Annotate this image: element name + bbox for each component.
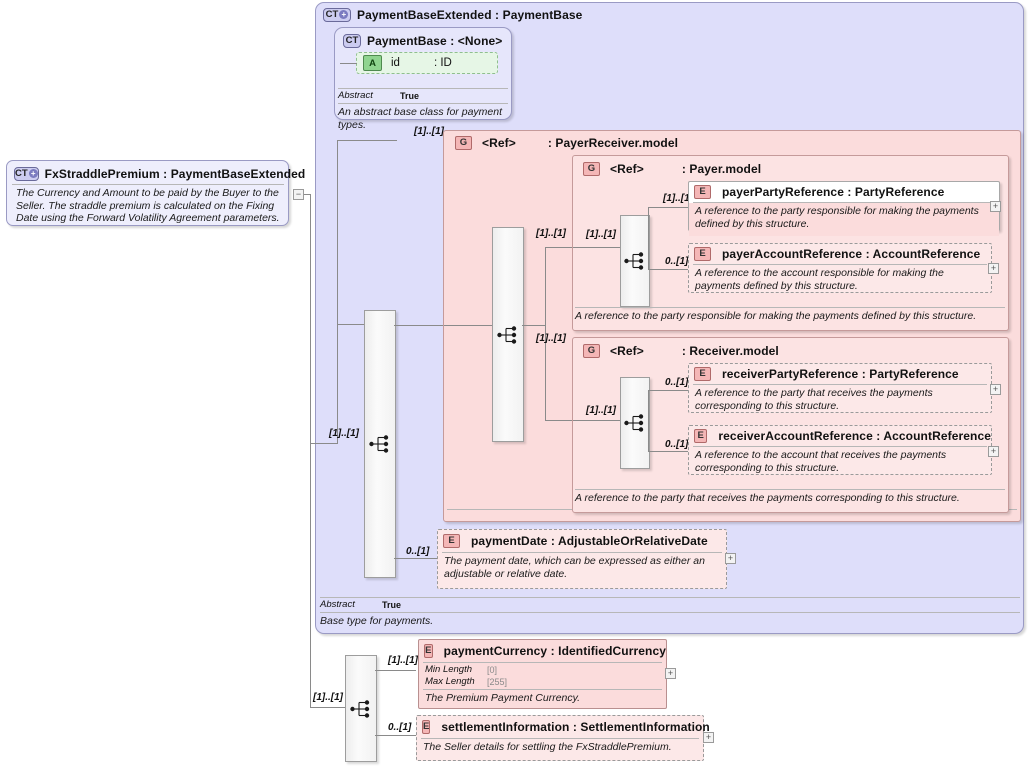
payment-base-abstract-key: Abstract — [338, 90, 400, 102]
sequence-compositor-receiver[interactable] — [620, 377, 650, 469]
settlementInformation-title: settlementInformation : SettlementInform… — [441, 720, 710, 734]
max-length-value: [255] — [487, 676, 507, 688]
payer-model-footer: A reference to the party responsible for… — [575, 307, 1005, 326]
sequence-compositor-payer-receiver[interactable] — [492, 227, 524, 442]
element-payerPartyReference[interactable]: E payerPartyReference : PartyReference A… — [688, 181, 1000, 231]
paymentDate-title: paymentDate : AdjustableOrRelativeDate — [471, 534, 708, 548]
element-icon: E — [424, 644, 433, 658]
abstract-key: Abstract — [320, 599, 382, 611]
root-plus-glyph: + — [29, 169, 38, 178]
receiverPartyReference-title: receiverPartyReference : PartyReference — [722, 367, 959, 381]
payer-model-header: G <Ref> : Payer.model — [578, 158, 908, 179]
root-element-description: The Currency and Amount to be paid by th… — [10, 185, 286, 228]
element-icon: E — [443, 534, 460, 548]
sequence-glyph-receiver — [624, 413, 646, 433]
complex-type-icon: CT — [343, 34, 361, 48]
receiver-model-description: A reference to the party that receives t… — [575, 490, 1005, 508]
pr-seq-in-line — [444, 325, 492, 326]
expand-settlementInformation[interactable]: + — [703, 732, 714, 743]
cardinality-settlementInformation: 0..[1] — [388, 722, 411, 733]
receiver-group-icon: G — [583, 344, 600, 358]
element-paymentCurrency[interactable]: E paymentCurrency : IdentifiedCurrency M… — [418, 639, 667, 709]
expand-glyph: + — [993, 201, 998, 211]
expand-paymentCurrency[interactable]: + — [665, 668, 676, 679]
payment-base-header: CT PaymentBase : <None> — [338, 30, 513, 51]
receiver-out-upper — [648, 390, 688, 391]
attribute-id-name: id — [391, 57, 400, 69]
receiver-seq-in-line — [573, 420, 620, 421]
receiverAccountReference-description: A reference to the account that receives… — [689, 447, 991, 480]
payerAccountReference-title: payerAccountReference : AccountReference — [722, 247, 980, 261]
payer-seq-in-line — [573, 247, 620, 248]
payer-receiver-model-title: : PayerReceiver.model — [548, 136, 678, 150]
receiver-model-header: G <Ref> : Receiver.model — [578, 340, 908, 361]
cardinality-receiver-seq: [1]..[1] — [586, 405, 616, 416]
settlementInformation-description: The Seller details for settling the FxSt… — [417, 739, 703, 757]
cardinality-paymentCurrency: [1]..[1] — [388, 655, 418, 666]
cardinality-receiverPartyReference: 0..[1] — [665, 377, 688, 388]
expand-glyph: + — [668, 668, 673, 678]
receiver-out-lower-v — [648, 420, 649, 451]
trunk-branch-upper — [310, 443, 338, 444]
root-element-body: The Currency and Amount to be paid by th… — [10, 184, 286, 228]
expand-glyph: + — [728, 553, 733, 563]
payer-out-lower-v — [648, 247, 649, 269]
cardinality-payer-seq: [1]..[1] — [586, 229, 616, 240]
seq-out-to-paymentdate — [394, 558, 437, 559]
expand-paymentDate[interactable]: + — [725, 553, 736, 564]
expand-glyph: + — [991, 446, 996, 456]
complex-type-expand-icon[interactable]: CT+ — [323, 8, 351, 22]
sequence-glyph-bottom — [350, 699, 372, 719]
cardinality-receiverAccountReference: 0..[1] — [665, 439, 688, 450]
paymentDate-description: The payment date, which can be expressed… — [438, 553, 726, 591]
bottom-out-lower — [375, 735, 416, 736]
pbx-seq-in-line — [337, 324, 364, 325]
bottom-out-upper — [375, 670, 416, 671]
cardinality-payerAccountReference: 0..[1] — [665, 256, 688, 267]
cardinality-root-seq: [1]..[1] — [329, 428, 359, 439]
pr-seq-out-upper — [522, 325, 546, 326]
ctline-to-paymentbase — [337, 140, 397, 141]
receiver-out-upper-v — [648, 390, 649, 421]
sequence-compositor-payer[interactable] — [620, 215, 650, 307]
payment-base-abstract-value: True — [400, 90, 419, 102]
min-length-value: [0] — [487, 664, 497, 676]
cardinality-payer-model: [1]..[1] — [536, 228, 566, 239]
payment-base-extended-title: PaymentBaseExtended : PaymentBase — [357, 8, 582, 22]
max-length-key: Max Length — [425, 676, 487, 688]
payment-base-title: PaymentBase : <None> — [367, 34, 502, 48]
root-complex-type-expand-icon[interactable]: CT+ — [14, 167, 39, 181]
sequence-compositor-bottom[interactable] — [345, 655, 377, 762]
attribute-icon: A — [363, 55, 382, 71]
receiver-ref-label: <Ref> — [610, 344, 644, 358]
element-paymentDate[interactable]: E paymentDate : AdjustableOrRelativeDate… — [437, 529, 727, 589]
payerAccountReference-description: A reference to the account responsible f… — [689, 265, 991, 298]
attribute-id[interactable]: A id : ID — [356, 52, 498, 74]
trunk-branch-upper-vertical — [337, 140, 338, 444]
expand-payerAccountReference[interactable]: + — [988, 263, 999, 274]
paymentCurrency-description: The Premium Payment Currency. — [419, 690, 666, 708]
attribute-id-type: : ID — [434, 57, 452, 69]
receiver-out-lower — [648, 451, 688, 452]
sequence-glyph — [369, 434, 391, 454]
payer-receiver-model-header: G <Ref> : PayerReceiver.model — [450, 132, 870, 153]
expand-glyph: + — [993, 384, 998, 394]
element-payerAccountReference[interactable]: E payerAccountReference : AccountReferen… — [688, 243, 992, 293]
plus-glyph: + — [339, 10, 348, 19]
payer-receiver-ref-label: <Ref> — [482, 136, 516, 150]
receiverAccountReference-title: receiverAccountReference : AccountRefere… — [718, 429, 991, 443]
payer-out-lower — [648, 269, 688, 270]
root-trunk-vertical — [310, 194, 311, 707]
min-length-key: Min Length — [425, 664, 487, 676]
seq-out-to-payerreceiver — [394, 325, 444, 326]
payment-base-extended-footer: Abstract True Base type for payments. — [320, 597, 1020, 631]
ct-label: CT — [326, 10, 339, 20]
payer-model-description: A reference to the party responsible for… — [575, 308, 1005, 326]
trunk-branch-lower — [310, 707, 345, 708]
payer-model-title: : Payer.model — [682, 162, 761, 176]
sequence-glyph-payer — [624, 251, 646, 271]
element-receiverPartyReference[interactable]: E receiverPartyReference : PartyReferenc… — [688, 363, 992, 413]
payer-group-icon: G — [583, 162, 600, 176]
cardinality-bottom-seq: [1]..[1] — [313, 692, 343, 703]
element-icon: E — [694, 247, 711, 261]
payerPartyReference-title: payerPartyReference : PartyReference — [722, 185, 944, 199]
element-icon: E — [422, 720, 430, 734]
group-icon: G — [455, 136, 472, 150]
root-collapse-toggle[interactable]: − — [293, 189, 304, 200]
payment-base-extended-description: Base type for payments. — [320, 613, 1020, 631]
root-element-title: FxStraddlePremium : PaymentBaseExtended — [45, 167, 306, 181]
payer-out-upper — [648, 207, 688, 208]
root-collapse-glyph: − — [296, 189, 301, 199]
element-icon: E — [694, 185, 711, 199]
cardinality-payerreceiver: [1]..[1] — [414, 126, 444, 137]
pr-to-payer-line — [545, 247, 573, 248]
cardinality-receiver-model: [1]..[1] — [536, 333, 566, 344]
root-ct-label: CT — [15, 169, 28, 179]
pr-branch-vertical-upper — [545, 247, 546, 326]
element-icon: E — [694, 367, 711, 381]
paymentCurrency-title: paymentCurrency : IdentifiedCurrency — [444, 644, 666, 658]
expand-glyph: + — [706, 732, 711, 742]
payer-ref-label: <Ref> — [610, 162, 644, 176]
cardinality-paymentDate: 0..[1] — [406, 546, 429, 557]
expand-payerPartyReference[interactable]: + — [990, 201, 1001, 212]
expand-receiverAccountReference[interactable]: + — [988, 446, 999, 457]
sequence-glyph-payer-receiver — [497, 325, 519, 345]
abstract-value: True — [382, 599, 401, 611]
receiverPartyReference-description: A reference to the party that receives t… — [689, 385, 991, 418]
receiver-model-title: : Receiver.model — [682, 344, 779, 358]
element-receiverAccountReference[interactable]: E receiverAccountReference : AccountRefe… — [688, 425, 992, 475]
attr-connector-line — [340, 63, 357, 64]
expand-glyph: + — [991, 263, 996, 273]
pr-to-receiver-line — [545, 420, 573, 421]
expand-receiverPartyReference[interactable]: + — [990, 384, 1001, 395]
element-icon: E — [694, 429, 707, 443]
payment-base-extended-header: CT+ PaymentBaseExtended : PaymentBase — [318, 4, 748, 25]
sequence-compositor-root[interactable] — [364, 310, 396, 578]
payerPartyReference-description: A reference to the party responsible for… — [689, 203, 999, 236]
element-settlementInformation[interactable]: E settlementInformation : SettlementInfo… — [416, 715, 704, 761]
receiver-model-footer: A reference to the party that receives t… — [575, 489, 1005, 508]
root-element-header: CT+ FxStraddlePremium : PaymentBaseExten… — [9, 163, 289, 184]
payer-out-upper-v — [648, 207, 649, 248]
